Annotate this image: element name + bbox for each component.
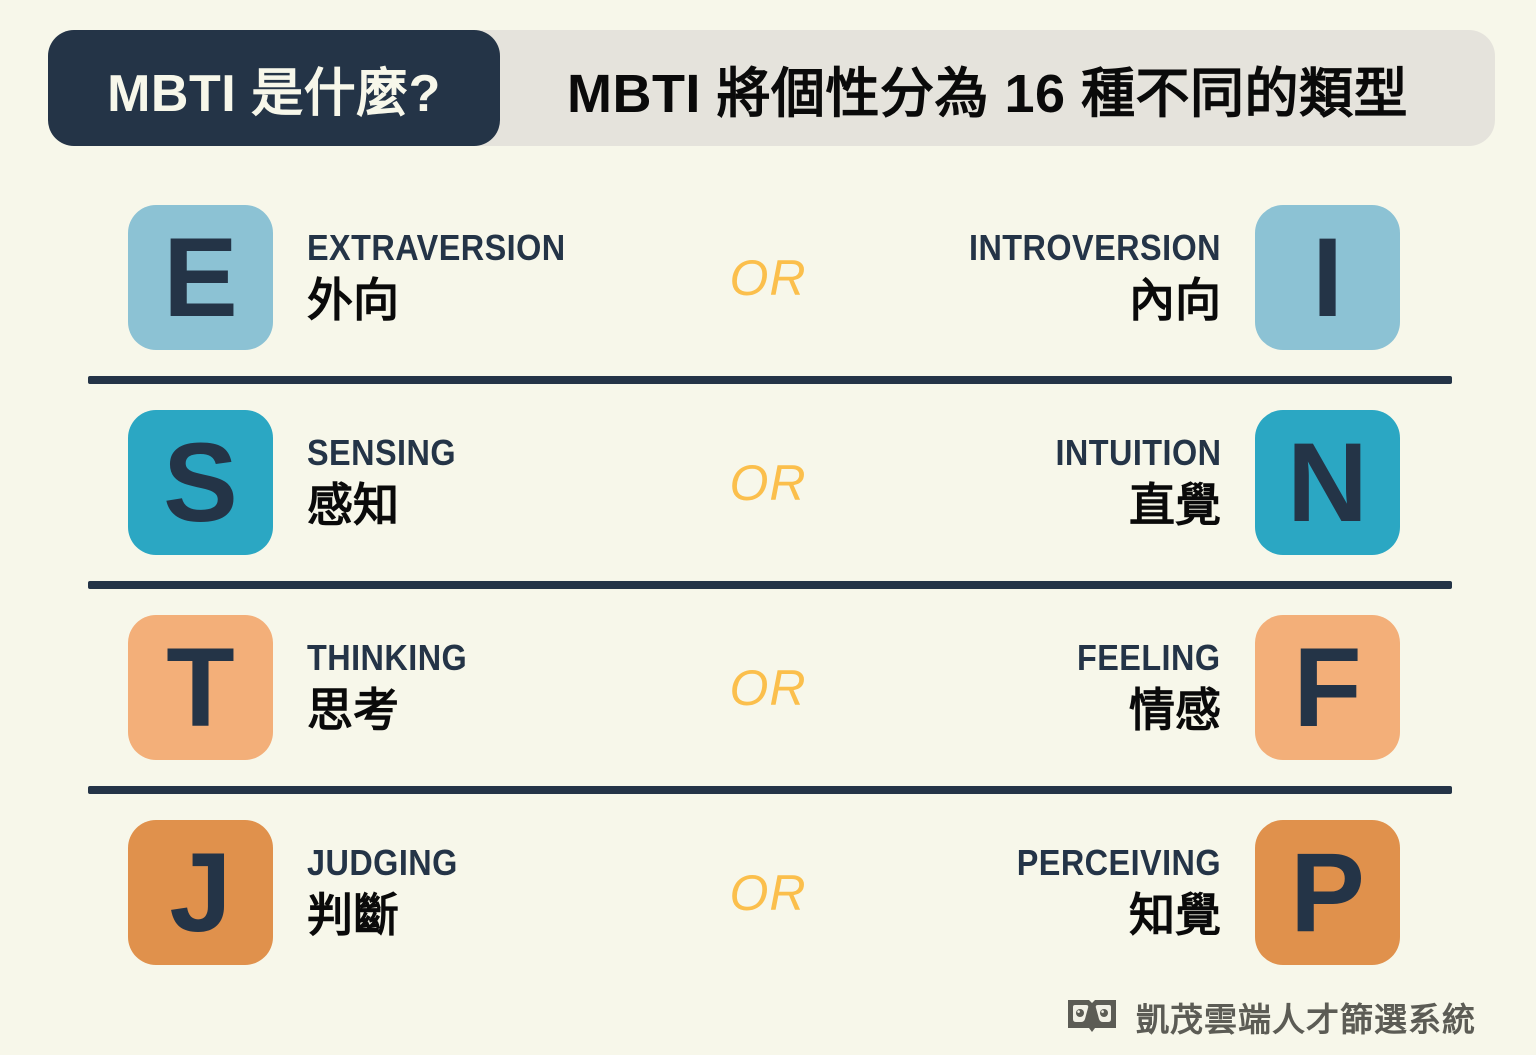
letter-tile-f: F: [1255, 615, 1400, 760]
infographic-canvas: MBTI 是什麼? MBTI 將個性分為 16 種不同的類型 E EXTRAVE…: [0, 0, 1536, 1055]
letter-tile-p: P: [1255, 820, 1400, 965]
connector-or-3: OR: [730, 659, 807, 717]
header-bar: MBTI 是什麼? MBTI 將個性分為 16 種不同的類型: [48, 30, 1495, 146]
pole-judging: J JUDGING 判斷: [128, 820, 475, 965]
dichotomy-row-ei: E EXTRAVERSION 外向 OR INTROVERSION 內向 I: [0, 175, 1536, 380]
footer-brand: 凱茂雲端人才篩選系統: [1066, 993, 1476, 1041]
label-en-judging: JUDGING: [307, 842, 458, 883]
label-zh-judging: 判斷: [307, 888, 475, 943]
tile-letter-s: S: [163, 427, 238, 539]
pole-thinking: T THINKING 思考: [128, 615, 485, 760]
label-en-perceiving: PERCEIVING: [1017, 842, 1221, 883]
tile-letter-t: T: [166, 632, 234, 744]
pole-labels-feeling: FEELING 情感: [1061, 637, 1221, 738]
letter-tile-i: I: [1255, 205, 1400, 350]
pole-extraversion: E EXTRAVERSION 外向: [128, 205, 594, 350]
label-en-thinking: THINKING: [307, 637, 467, 678]
dichotomy-list: E EXTRAVERSION 外向 OR INTROVERSION 內向 I: [0, 175, 1536, 995]
dichotomy-row-jp: J JUDGING 判斷 OR PERCEIVING 知覺 P: [0, 790, 1536, 995]
header-title-container: MBTI 將個性分為 16 種不同的類型: [500, 30, 1495, 146]
label-zh-sensing: 感知: [307, 478, 473, 533]
pole-labels-extraversion: EXTRAVERSION 外向: [307, 227, 594, 328]
label-zh-introversion: 內向: [941, 273, 1221, 328]
label-en-feeling: FEELING: [1077, 637, 1221, 678]
dichotomy-row-tf: T THINKING 思考 OR FEELING 情感 F: [0, 585, 1536, 790]
page-title: MBTI 將個性分為 16 種不同的類型: [567, 49, 1408, 128]
label-zh-thinking: 思考: [307, 683, 485, 738]
tile-letter-n: N: [1287, 427, 1368, 539]
pole-feeling: FEELING 情感 F: [1061, 615, 1400, 760]
tile-letter-j: J: [169, 837, 231, 949]
connector-or-2: OR: [730, 454, 807, 512]
footer-brand-name: 凱茂雲端人才篩選系統: [1136, 993, 1476, 1041]
label-zh-extraversion: 外向: [307, 273, 594, 328]
label-zh-feeling: 情感: [1061, 683, 1221, 738]
tile-letter-p: P: [1290, 837, 1365, 949]
letter-tile-e: E: [128, 205, 273, 350]
pole-sensing: S SENSING 感知: [128, 410, 473, 555]
pole-labels-thinking: THINKING 思考: [307, 637, 485, 738]
header-badge-label: MBTI 是什麼?: [107, 51, 441, 126]
label-en-extraversion: EXTRAVERSION: [307, 227, 566, 268]
letter-tile-t: T: [128, 615, 273, 760]
tile-letter-e: E: [163, 222, 238, 334]
connector-or-1: OR: [730, 249, 807, 307]
tile-letter-i: I: [1312, 222, 1343, 334]
connector-or-4: OR: [730, 864, 807, 922]
owl-book-logo-icon: [1066, 997, 1118, 1037]
pole-introversion: INTROVERSION 內向 I: [941, 205, 1400, 350]
pole-labels-judging: JUDGING 判斷: [307, 842, 475, 943]
letter-tile-j: J: [128, 820, 273, 965]
label-zh-perceiving: 知覺: [994, 888, 1221, 943]
letter-tile-n: N: [1255, 410, 1400, 555]
label-en-introversion: INTROVERSION: [969, 227, 1221, 268]
pole-labels-sensing: SENSING 感知: [307, 432, 473, 533]
label-zh-intuition: 直覺: [1037, 478, 1221, 533]
label-en-intuition: INTUITION: [1055, 432, 1221, 473]
pole-labels-perceiving: PERCEIVING 知覺: [994, 842, 1221, 943]
header-badge: MBTI 是什麼?: [48, 30, 500, 146]
dichotomy-row-sn: S SENSING 感知 OR INTUITION 直覺 N: [0, 380, 1536, 585]
letter-tile-s: S: [128, 410, 273, 555]
pole-intuition: INTUITION 直覺 N: [1037, 410, 1400, 555]
pole-labels-intuition: INTUITION 直覺: [1037, 432, 1221, 533]
label-en-sensing: SENSING: [307, 432, 456, 473]
pole-perceiving: PERCEIVING 知覺 P: [994, 820, 1400, 965]
tile-letter-f: F: [1293, 632, 1361, 744]
pole-labels-introversion: INTROVERSION 內向: [941, 227, 1221, 328]
